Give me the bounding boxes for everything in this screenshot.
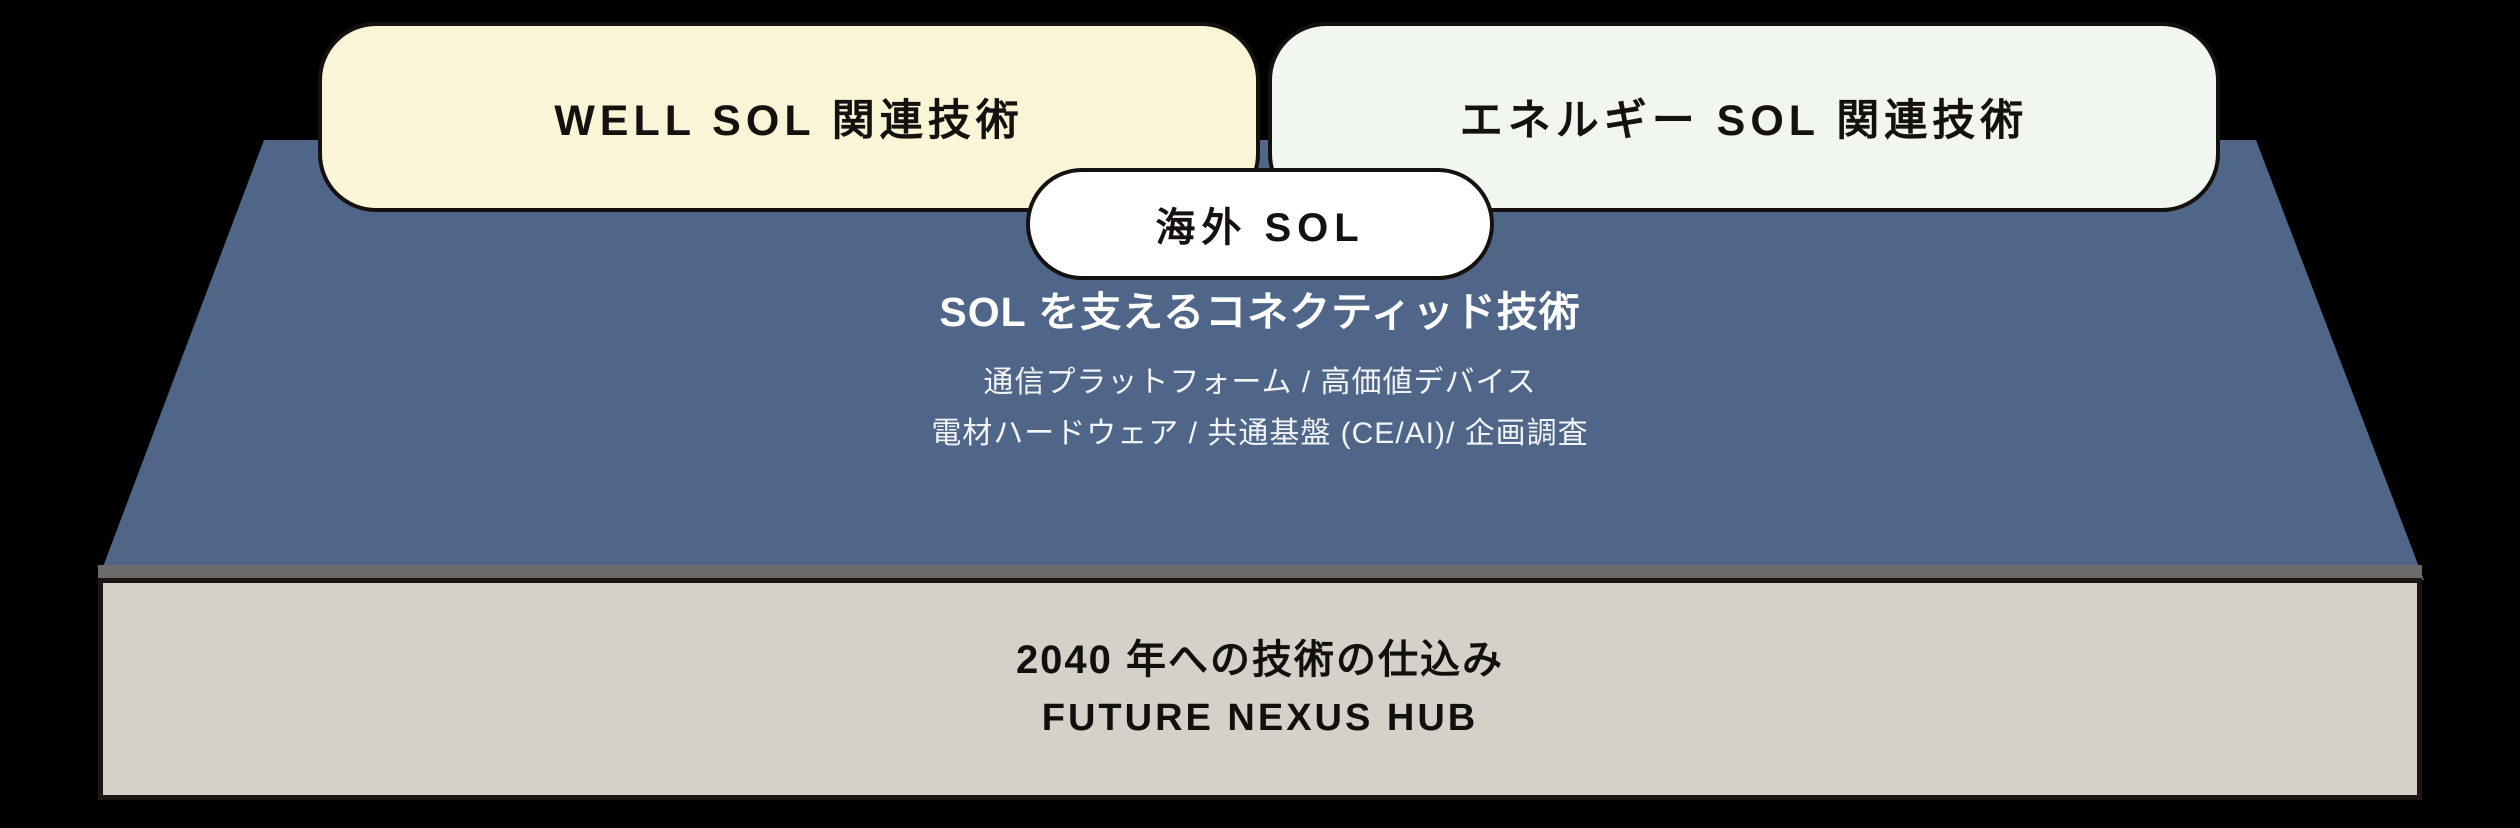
base-top-rule xyxy=(98,565,2422,578)
future-nexus-hub-base xyxy=(98,578,2422,800)
diagram-canvas: SOL を支えるコネクティッド技術 通信プラットフォーム / 高価値デバイス 電… xyxy=(0,0,2520,828)
pill-overseas-sol[interactable]: 海外 SOL xyxy=(1026,168,1494,280)
